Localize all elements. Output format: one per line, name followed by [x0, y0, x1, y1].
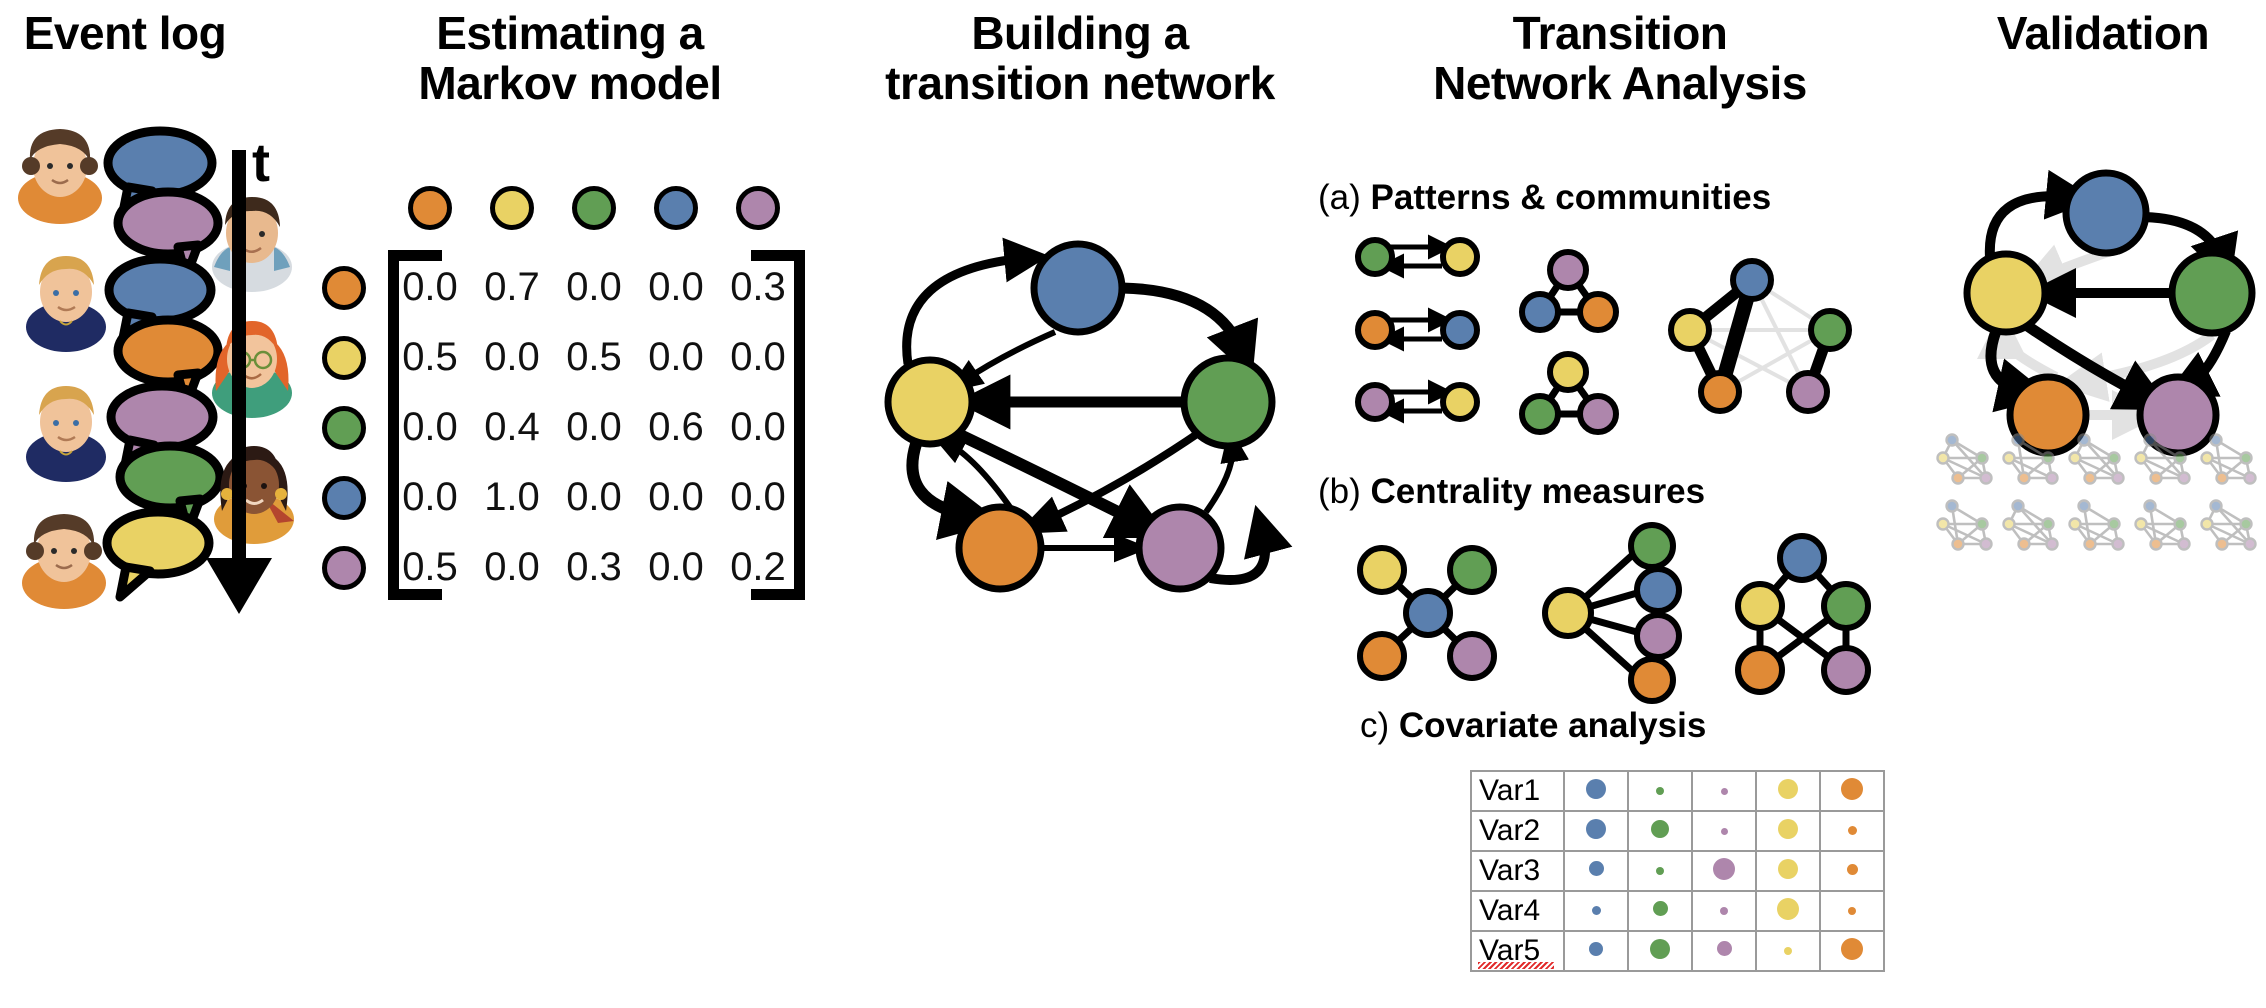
- bootstrap-network: [1938, 435, 1992, 484]
- page-title-event-log: Event log: [0, 8, 250, 60]
- matrix-column-state-purple: [736, 186, 780, 230]
- avatar: [18, 129, 102, 224]
- node-green: [1358, 240, 1392, 274]
- page-title-tna-1: Transition: [1300, 8, 1940, 60]
- matrix-cell: 1.0: [473, 477, 551, 517]
- matrix-cell: 0.5: [391, 547, 469, 587]
- avatar: [26, 256, 106, 352]
- covariate-cell: [1820, 931, 1884, 971]
- covariate-cell: [1628, 931, 1692, 971]
- node-purple: [1450, 634, 1494, 678]
- matrix-column-state-yellow: [490, 186, 534, 230]
- time-axis-arrowhead: [206, 558, 272, 614]
- matrix-cell: 0.0: [555, 407, 633, 447]
- page-title-build-2: transition network: [830, 58, 1330, 110]
- covariate-cell: [1564, 891, 1628, 931]
- node-yellow: [888, 360, 972, 444]
- transition-network-panel: Building a transition network: [850, 0, 1310, 1008]
- node-orange: [1738, 648, 1782, 692]
- node-green: [1811, 311, 1849, 349]
- section-title-a: Patterns & communities: [1371, 178, 1772, 217]
- matrix-bracket-right-bottom: [751, 589, 805, 600]
- node-purple: [1550, 252, 1586, 288]
- edge-purple-to-green: [1206, 444, 1232, 512]
- validation-panel: Validation: [1940, 0, 2266, 1008]
- covariate-cell: [1564, 811, 1628, 851]
- node-green: [1184, 358, 1272, 446]
- node-blue: [2066, 173, 2146, 253]
- bootstrap-network: [2070, 435, 2124, 484]
- matrix-row-state-blue: [322, 476, 366, 520]
- bootstrap-network: [2004, 435, 2058, 484]
- covariate-cell: [1820, 771, 1884, 811]
- node-blue: [1637, 569, 1679, 611]
- matrix-cell: 0.0: [719, 477, 797, 517]
- table-row: Var2: [1471, 811, 1884, 851]
- node-orange: [1360, 634, 1404, 678]
- table-row: Var5: [1471, 931, 1884, 971]
- page-title-validation: Validation: [1930, 8, 2266, 60]
- table-row-label: Var4: [1471, 891, 1564, 931]
- node-blue: [1733, 261, 1771, 299]
- matrix-cell: 0.0: [473, 337, 551, 377]
- node-yellow: [1671, 311, 1709, 349]
- node-blue: [1522, 294, 1558, 330]
- matrix-bracket-left-top: [388, 250, 442, 261]
- covariate-cell: [1692, 931, 1756, 971]
- matrix-cell: 0.0: [719, 337, 797, 377]
- covariate-cell: [1692, 891, 1756, 931]
- section-label-b: (b): [1318, 472, 1361, 511]
- bootstrap-network: [2202, 501, 2256, 550]
- node-green: [1631, 525, 1673, 567]
- matrix-bracket-left-bottom: [388, 589, 442, 600]
- pattern-dyad-2: [1358, 313, 1477, 347]
- section-title-b: Centrality measures: [1371, 472, 1706, 511]
- node-green: [1522, 396, 1558, 432]
- edge-blue-to-yellow: [962, 332, 1055, 382]
- matrix-cell: 0.3: [555, 547, 633, 587]
- patterns-communities-figure: [1360, 240, 1960, 440]
- matrix-cell: 0.3: [719, 267, 797, 307]
- node-blue: [1406, 591, 1450, 635]
- node-purple: [1824, 648, 1868, 692]
- node-blue: [1443, 313, 1477, 347]
- node-purple: [1637, 615, 1679, 657]
- time-axis-line: [232, 150, 246, 580]
- transition-network-graph: [850, 120, 1310, 640]
- bootstrap-network-grid: [1934, 422, 2264, 557]
- avatar: [212, 321, 292, 418]
- matrix-cell: 0.0: [555, 267, 633, 307]
- covariate-cell: [1564, 771, 1628, 811]
- matrix-cell: 0.6: [637, 407, 715, 447]
- page-title-build-1: Building a: [850, 8, 1310, 60]
- community-graph: [1671, 261, 1849, 411]
- node-blue: [1780, 536, 1824, 580]
- covariate-cell: [1756, 811, 1820, 851]
- covariate-cell: [1756, 851, 1820, 891]
- page-title-markov-1: Estimating a: [300, 8, 840, 60]
- table-row-label: Var3: [1471, 851, 1564, 891]
- section-title-c: Covariate analysis: [1399, 706, 1706, 745]
- table-row-label: Var1: [1471, 771, 1564, 811]
- section-label-c: c): [1360, 706, 1389, 745]
- node-green: [1824, 584, 1868, 628]
- covariate-cell: [1628, 811, 1692, 851]
- matrix-bracket-right-top: [751, 250, 805, 261]
- bootstrap-network: [2136, 435, 2190, 484]
- matrix-cell: 0.0: [391, 407, 469, 447]
- node-orange: [1580, 294, 1616, 330]
- matrix-row-state-green: [322, 406, 366, 450]
- node-purple: [1789, 373, 1827, 411]
- pattern-triad-1: [1522, 252, 1616, 330]
- covariate-cell: [1756, 931, 1820, 971]
- centrality-fan-graph: [1545, 525, 1679, 701]
- matrix-row-state-orange: [322, 266, 366, 310]
- speech-bubble: [107, 512, 209, 597]
- node-yellow: [1967, 254, 2045, 332]
- matrix-cell: 0.0: [637, 547, 715, 587]
- node-orange: [959, 507, 1041, 589]
- matrix-cell: 0.0: [473, 547, 551, 587]
- node-yellow: [1360, 548, 1404, 592]
- edge-blue-to-green: [1122, 288, 1242, 352]
- covariate-cell: [1692, 851, 1756, 891]
- node-yellow: [1545, 590, 1591, 636]
- bootstrap-network: [2070, 501, 2124, 550]
- node-yellow: [1738, 584, 1782, 628]
- table-row: Var3: [1471, 851, 1884, 891]
- matrix-column-state-orange: [408, 186, 452, 230]
- tna-panel: Transition Network Analysis (a) Patterns…: [1300, 0, 1940, 1008]
- covariate-cell: [1756, 891, 1820, 931]
- centrality-measures-figure: [1360, 528, 1960, 698]
- page-title-markov-2: Markov model: [300, 58, 840, 110]
- avatar: [214, 446, 294, 544]
- node-purple: [1580, 396, 1616, 432]
- node-orange: [1631, 659, 1673, 701]
- node-orange: [1701, 373, 1739, 411]
- section-label-a: (a): [1318, 178, 1361, 217]
- covariate-analysis-table: Var1 Var2 Var3 Var4: [1470, 770, 1885, 972]
- avatar: [26, 386, 106, 482]
- markov-model-panel: Estimating a Markov model 0.0 0.7 0.0 0.…: [300, 0, 840, 1008]
- node-green: [1450, 548, 1494, 592]
- bootstrap-network: [2004, 501, 2058, 550]
- covariate-cell: [1820, 851, 1884, 891]
- matrix-cell: 0.0: [637, 267, 715, 307]
- covariate-cell: [1820, 891, 1884, 931]
- section-heading-a: (a) Patterns & communities: [1318, 178, 1771, 218]
- matrix-cell: 0.5: [391, 337, 469, 377]
- covariate-cell: [1692, 771, 1756, 811]
- matrix-cell: 0.4: [473, 407, 551, 447]
- matrix-cell: 0.0: [637, 337, 715, 377]
- table-row: Var4: [1471, 891, 1884, 931]
- node-purple: [1358, 385, 1392, 419]
- matrix-cell: 0.5: [555, 337, 633, 377]
- bootstrap-network: [2202, 435, 2256, 484]
- table-row: Var1: [1471, 771, 1884, 811]
- matrix-row-state-yellow: [322, 336, 366, 380]
- edge-yellow-to-blue: [907, 258, 1026, 364]
- covariate-cell: [1820, 811, 1884, 851]
- node-yellow: [1443, 385, 1477, 419]
- edge-yellow-to-blue: [1990, 196, 2070, 257]
- page-title-tna-2: Network Analysis: [1300, 58, 1940, 110]
- spellcheck-underline: [1478, 962, 1554, 969]
- bootstrap-network: [2136, 501, 2190, 550]
- node-blue: [1034, 244, 1122, 332]
- covariate-cell: [1756, 771, 1820, 811]
- pattern-triad-2: [1522, 354, 1616, 432]
- matrix-cell: 0.0: [637, 477, 715, 517]
- section-heading-c: c) Covariate analysis: [1360, 706, 1706, 746]
- matrix-cell: 0.0: [391, 477, 469, 517]
- matrix-cell: 0.0: [555, 477, 633, 517]
- pattern-dyad-3: [1358, 385, 1477, 419]
- transition-nodes: [888, 244, 1272, 589]
- table-row-label: Var5: [1471, 931, 1564, 971]
- covariate-cell: [1628, 851, 1692, 891]
- matrix-cell: 0.2: [719, 547, 797, 587]
- node-orange: [1358, 313, 1392, 347]
- avatar: [212, 197, 292, 292]
- centrality-lattice-graph: [1738, 536, 1868, 692]
- matrix-column-state-blue: [654, 186, 698, 230]
- node-green: [2172, 253, 2252, 333]
- matrix-row-state-purple: [322, 546, 366, 590]
- covariate-cell: [1564, 851, 1628, 891]
- matrix-cell: 0.0: [719, 407, 797, 447]
- covariate-cell: [1628, 771, 1692, 811]
- table-row-label: Var2: [1471, 811, 1564, 851]
- time-axis-label: t: [252, 136, 270, 190]
- covariate-cell: [1692, 811, 1756, 851]
- matrix-cell: 0.7: [473, 267, 551, 307]
- avatar: [22, 514, 106, 609]
- section-heading-b: (b) Centrality measures: [1318, 472, 1705, 512]
- matrix-column-state-green: [572, 186, 616, 230]
- node-purple: [1139, 507, 1221, 589]
- centrality-star-graph: [1360, 548, 1494, 678]
- bootstrap-network: [1938, 501, 1992, 550]
- covariate-cell: [1628, 891, 1692, 931]
- pattern-dyad-1: [1358, 240, 1477, 274]
- node-yellow: [1550, 354, 1586, 390]
- validation-network-graph: [1940, 85, 2266, 405]
- matrix-cell: 0.0: [391, 267, 469, 307]
- covariate-cell: [1564, 931, 1628, 971]
- node-yellow: [1443, 240, 1477, 274]
